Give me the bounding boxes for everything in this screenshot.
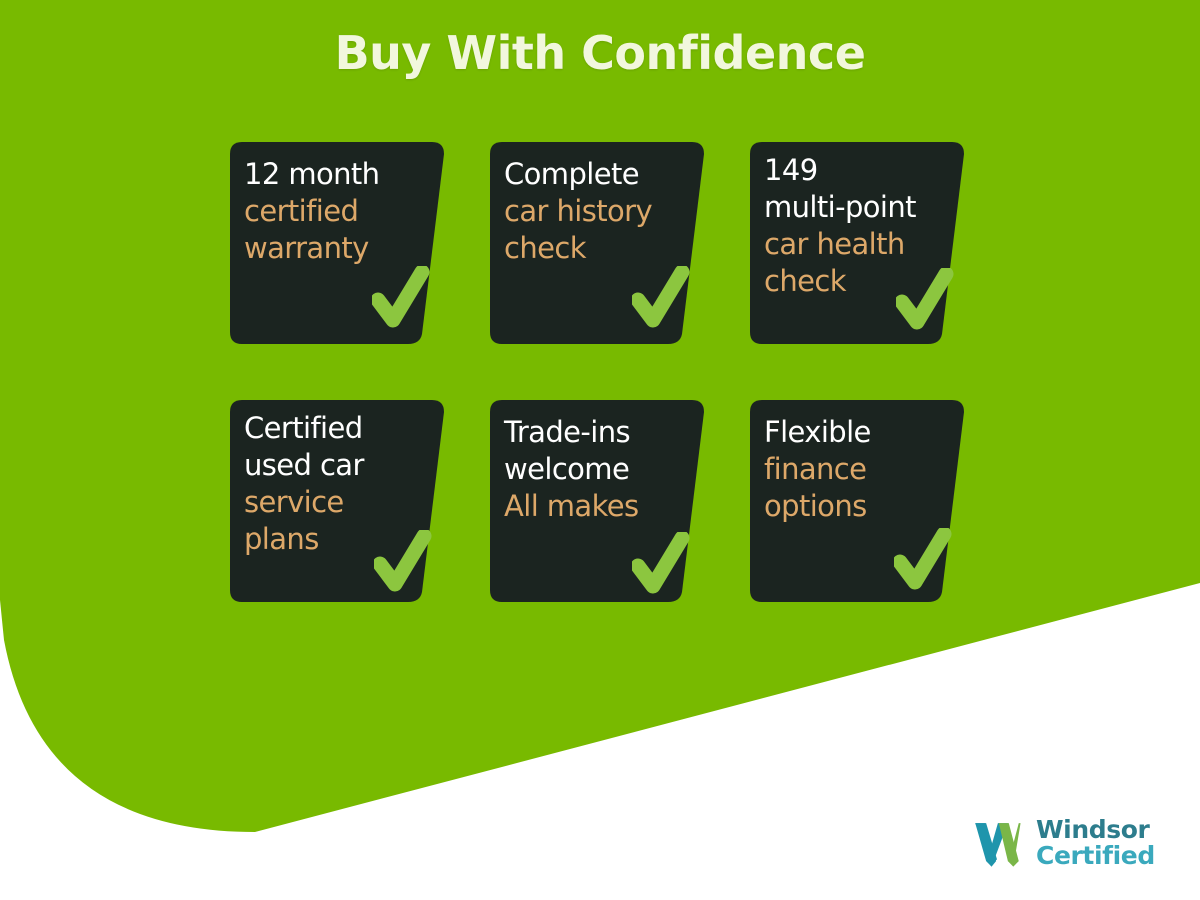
card-line: service <box>244 484 430 521</box>
logo-wordmark: Windsor Certified <box>1036 817 1155 869</box>
card-line: warranty <box>244 230 430 267</box>
benefit-card-finance-options[interactable]: Flexible finance options <box>746 396 976 606</box>
check-icon <box>632 266 694 338</box>
card-line: Certified <box>244 410 430 447</box>
benefits-grid: 12 month certified warranty Complete car… <box>226 138 986 608</box>
card-text: 12 month certified warranty <box>244 156 430 267</box>
card-line: used car <box>244 447 430 484</box>
card-line: certified <box>244 193 430 230</box>
infographic-canvas: Buy With Confidence 12 month certified w… <box>0 0 1200 900</box>
card-line: Complete <box>504 156 690 193</box>
card-line: finance <box>764 451 950 488</box>
windsor-certified-logo[interactable]: Windsor Certified <box>968 808 1158 878</box>
card-line: check <box>504 230 690 267</box>
logo-line-windsor: Windsor <box>1036 817 1155 843</box>
card-line: All makes <box>504 488 690 525</box>
card-line: 149 <box>764 152 950 189</box>
windsor-w-icon <box>968 814 1026 872</box>
check-icon <box>374 530 436 602</box>
page-title: Buy With Confidence <box>0 26 1200 80</box>
check-icon <box>896 268 958 340</box>
benefit-card-trade-ins[interactable]: Trade-ins welcome All makes <box>486 396 716 606</box>
card-line: car health <box>764 226 950 263</box>
benefit-card-service-plans[interactable]: Certified used car service plans <box>226 396 456 606</box>
card-line: Flexible <box>764 414 950 451</box>
check-icon <box>632 532 694 604</box>
card-line: car history <box>504 193 690 230</box>
check-icon <box>372 266 434 338</box>
check-icon <box>894 528 956 600</box>
benefit-card-history-check[interactable]: Complete car history check <box>486 138 716 348</box>
card-line: 12 month <box>244 156 430 193</box>
card-line: options <box>764 488 950 525</box>
logo-line-certified: Certified <box>1036 843 1155 869</box>
benefit-card-health-check[interactable]: 149 multi-point car health check <box>746 138 976 348</box>
card-line: multi-point <box>764 189 950 226</box>
card-text: Flexible finance options <box>764 414 950 525</box>
benefit-card-warranty[interactable]: 12 month certified warranty <box>226 138 456 348</box>
card-text: Complete car history check <box>504 156 690 267</box>
card-text: Trade-ins welcome All makes <box>504 414 690 525</box>
card-line: Trade-ins <box>504 414 690 451</box>
card-line: welcome <box>504 451 690 488</box>
